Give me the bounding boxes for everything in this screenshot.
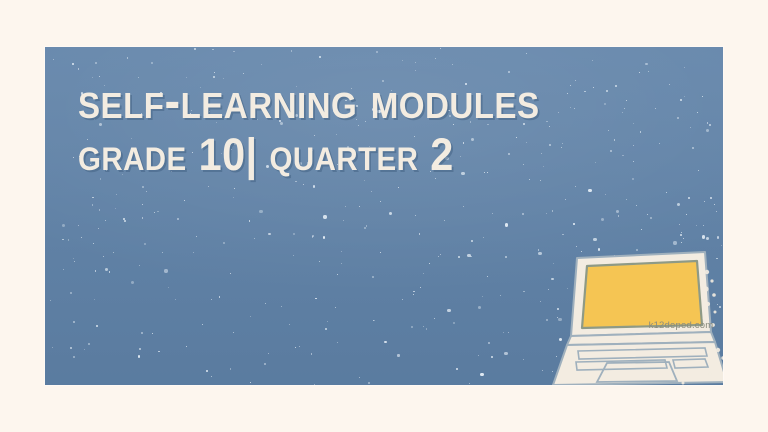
headline-primary: Self-Learning Modules bbox=[78, 75, 648, 126]
laptop-illustration: k12deped.com bbox=[545, 232, 723, 385]
banner-canvas: Self-Learning Modules Grade 10| Quarter … bbox=[0, 0, 768, 432]
title-block: Self-Learning Modules Grade 10| Quarter … bbox=[78, 75, 698, 177]
footer-url-text: visit.k12deped.com bbox=[115, 383, 276, 385]
laptop-screen-shape bbox=[582, 261, 702, 328]
headline-secondary: Grade 10| Quarter 2 bbox=[78, 132, 648, 177]
banner-panel: Self-Learning Modules Grade 10| Quarter … bbox=[45, 47, 723, 385]
